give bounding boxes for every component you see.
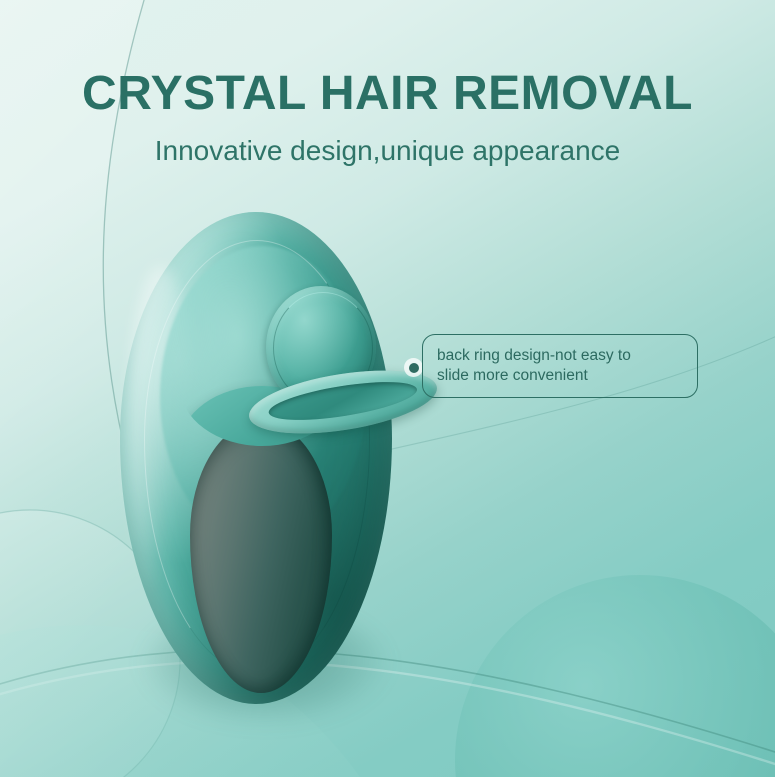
- product-marketing-image: CRYSTAL HAIR REMOVAL Innovative design,u…: [0, 0, 775, 777]
- feature-callout-text: back ring design-not easy to slide more …: [437, 346, 631, 386]
- callout-leader-dot: [404, 358, 423, 377]
- feature-callout-box: back ring design-not easy to slide more …: [422, 334, 698, 398]
- callout-line-2: slide more convenient: [437, 367, 588, 384]
- product-device: [118, 206, 418, 716]
- page-title: CRYSTAL HAIR REMOVAL: [0, 66, 775, 121]
- background-circle-right: [455, 575, 775, 777]
- page-subtitle: Innovative design,unique appearance: [0, 135, 775, 167]
- callout-line-1: back ring design-not easy to: [437, 347, 631, 364]
- callout-dot-inner: [409, 363, 419, 373]
